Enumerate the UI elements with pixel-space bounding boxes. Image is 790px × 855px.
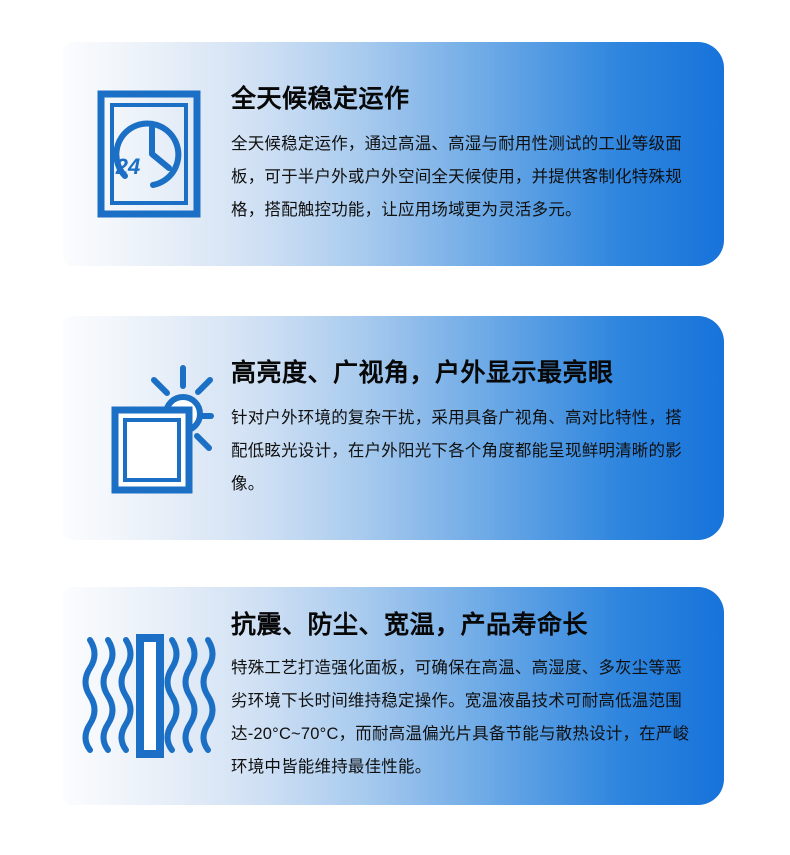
feature-card-1-description: 全天候稳定运作，通过高温、高湿与耐用性测试的工业等级面板，可于半户外或户外空间全… [231,128,698,227]
feature-card-3-icon-well [63,587,231,805]
feature-card-1: 24 全天候稳定运作 全天候稳定运作，通过高温、高湿与耐用性测试的工业等级面板，… [63,42,724,266]
feature-card-1-title: 全天候稳定运作 [231,84,698,114]
feature-card-3-title: 抗震、防尘、宽温，产品寿命长 [231,610,698,640]
icon-24-label: 24 [115,154,140,179]
panel-sun-cloud-outdoor-icon [79,360,219,496]
panel-clock-24h-icon: 24 [95,90,203,218]
feature-card-1-body: 全天候稳定运作 全天候稳定运作，通过高温、高湿与耐用性测试的工业等级面板，可于半… [231,82,724,227]
feature-card-2-body: 高亮度、广视角，户外显示最亮眼 针对户外环境的复杂干扰，采用具备广视角、高对比特… [231,356,724,501]
feature-card-2-description: 针对户外环境的复杂干扰，采用具备广视角、高对比特性，搭配低眩光设计，在户外阳光下… [231,402,698,501]
feature-card-2-icon-well [63,316,231,540]
feature-cards-page: 24 全天候稳定运作 全天候稳定运作，通过高温、高湿与耐用性测试的工业等级面板，… [0,0,790,855]
feature-card-3: 抗震、防尘、宽温，产品寿命长 特殊工艺打造强化面板，可确保在高温、高湿度、多灰尘… [63,587,724,805]
feature-card-1-icon-well: 24 [63,42,231,266]
feature-card-3-body: 抗震、防尘、宽温，产品寿命长 特殊工艺打造强化面板，可确保在高温、高湿度、多灰尘… [231,608,724,784]
feature-card-3-description: 特殊工艺打造强化面板，可确保在高温、高湿度、多灰尘等恶劣环境下长时间维持稳定操作… [231,652,698,784]
feature-card-2: 高亮度、广视角，户外显示最亮眼 针对户外环境的复杂干扰，采用具备广视角、高对比特… [63,316,724,540]
feature-card-2-title: 高亮度、广视角，户外显示最亮眼 [231,358,698,388]
panel-vibration-waves-icon [76,630,222,762]
